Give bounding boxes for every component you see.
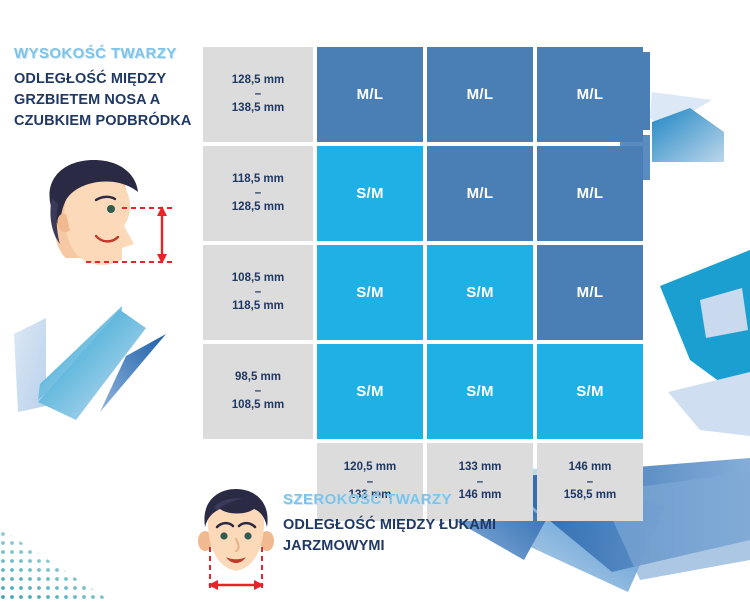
row-header-dash: – [255,89,261,99]
face-front-illustration [184,487,288,595]
row-header-to: 118,5 mm [232,298,284,316]
table-row: 98,5 mm – 108,5 mm S/M S/M S/M [203,344,643,439]
matrix-cell[interactable]: M/L [427,146,533,241]
row-header: 108,5 mm – 118,5 mm [203,245,313,340]
column-header-dash: – [367,477,373,487]
matrix-cell[interactable]: M/L [537,146,643,241]
face-height-eyebrow: WYSOKOŚĆ TWARZY [14,46,194,63]
column-header: 146 mm – 158,5 mm [537,443,643,521]
row-header-from: 128,5 mm [232,72,284,90]
face-width-description: ODLEGŁOŚĆ MIĘDZY ŁUKAMI JARZMOWYMI [283,515,533,557]
matrix-cell[interactable]: M/L [537,245,643,340]
matrix-cell[interactable]: S/M [427,344,533,439]
column-header-dash: – [477,477,483,487]
face-height-description: ODLEGŁOŚĆ MIĘDZY GRZBIETEM NOSA A CZUBKI… [14,69,194,132]
face-profile-illustration [22,158,182,283]
column-header-from: 133 mm [459,459,502,477]
matrix-cell[interactable]: S/M [317,245,423,340]
matrix-cell[interactable]: M/L [317,47,423,142]
row-header-to: 128,5 mm [232,199,284,217]
row-header-from: 98,5 mm [235,369,281,387]
matrix-cell[interactable]: S/M [537,344,643,439]
table-row: 118,5 mm – 128,5 mm S/M M/L M/L [203,146,643,241]
column-header-to: 158,5 mm [564,487,616,505]
face-width-label-block: SZEROKOŚĆ TWARZY ODLEGŁOŚĆ MIĘDZY ŁUKAMI… [283,492,533,557]
face-width-eyebrow: SZEROKOŚĆ TWARZY [283,492,533,509]
row-header: 118,5 mm – 128,5 mm [203,146,313,241]
table-row: 128,5 mm – 138,5 mm M/L M/L M/L [203,47,643,142]
row-header-to: 108,5 mm [232,397,284,415]
column-header-dash: – [587,477,593,487]
row-header: 128,5 mm – 138,5 mm [203,47,313,142]
matrix-cell[interactable]: M/L [427,47,533,142]
column-header-from: 146 mm [569,459,612,477]
column-header-from: 120,5 mm [344,459,396,477]
matrix-cell[interactable]: S/M [317,344,423,439]
row-header: 98,5 mm – 108,5 mm [203,344,313,439]
matrix-cell[interactable]: S/M [427,245,533,340]
infographic-canvas: WYSOKOŚĆ TWARZY ODLEGŁOŚĆ MIĘDZY GRZBIET… [0,0,750,602]
row-header-dash: – [255,287,261,297]
row-header-dash: – [255,188,261,198]
face-height-label-block: WYSOKOŚĆ TWARZY ODLEGŁOŚĆ MIĘDZY GRZBIET… [14,46,194,132]
row-header-from: 108,5 mm [232,270,284,288]
row-header-to: 138,5 mm [232,100,284,118]
row-header-from: 118,5 mm [232,171,284,189]
row-header-dash: – [255,386,261,396]
matrix-cell[interactable]: M/L [537,47,643,142]
size-matrix: 128,5 mm – 138,5 mm M/L M/L M/L 118,5 mm… [203,47,643,521]
table-row: 108,5 mm – 118,5 mm S/M S/M M/L [203,245,643,340]
matrix-cell[interactable]: S/M [317,146,423,241]
